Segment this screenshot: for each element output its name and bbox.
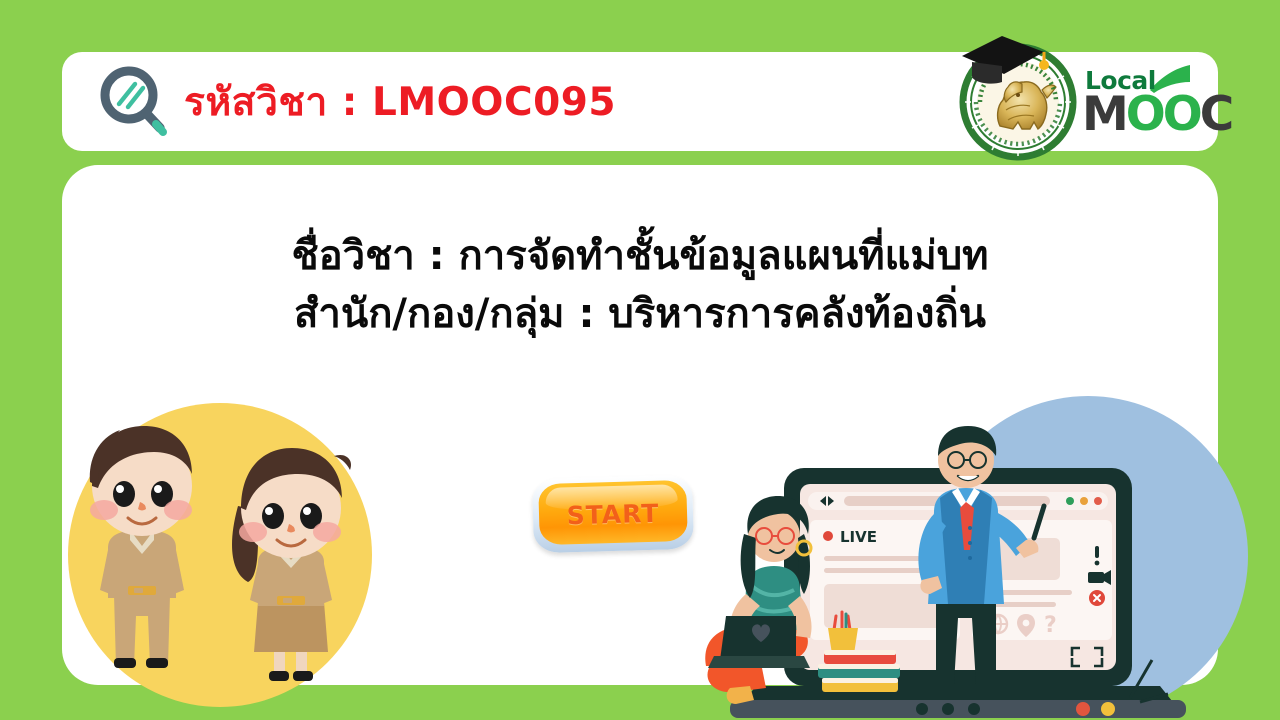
course-title-block: ชื่อวิชา : การจัดทำชั้นข้อมูลแผนที่แม่บท…: [62, 227, 1218, 343]
online-learning-illustration: LIVE ?: [700, 398, 1220, 720]
svg-text:?: ?: [1044, 613, 1057, 638]
brand-lockup: Local MOOC: [956, 30, 1202, 162]
start-button-label: START: [532, 475, 694, 553]
wordmark-mooc-m: M: [1082, 87, 1126, 142]
header-card: รหัสวิชา : LMOOC095: [62, 52, 1218, 151]
thai-officials-students-illustration: [62, 390, 392, 720]
wordmark-local: Local: [1085, 66, 1156, 95]
wordmark-mooc-oo: OO: [1126, 87, 1200, 142]
live-badge-text: LIVE: [840, 528, 877, 546]
wordmark-mooc-c: C: [1200, 87, 1232, 142]
localmooc-wordmark: Local MOOC: [1082, 66, 1202, 152]
wordmark-mooc: MOOC: [1082, 91, 1231, 138]
course-department-line: สำนัก/กอง/กลุ่ม : บริหารการคลังท้องถิ่น: [62, 285, 1218, 343]
course-name-line: ชื่อวิชา : การจัดทำชั้นข้อมูลแผนที่แม่บท: [62, 227, 1218, 285]
magnifier-icon: [94, 64, 174, 142]
start-button[interactable]: START: [533, 477, 693, 551]
course-cover-page: รหัสวิชา : LMOOC095: [0, 0, 1280, 720]
graduation-cap-icon: [958, 26, 1050, 88]
course-code-label: รหัสวิชา : LMOOC095: [184, 71, 616, 133]
